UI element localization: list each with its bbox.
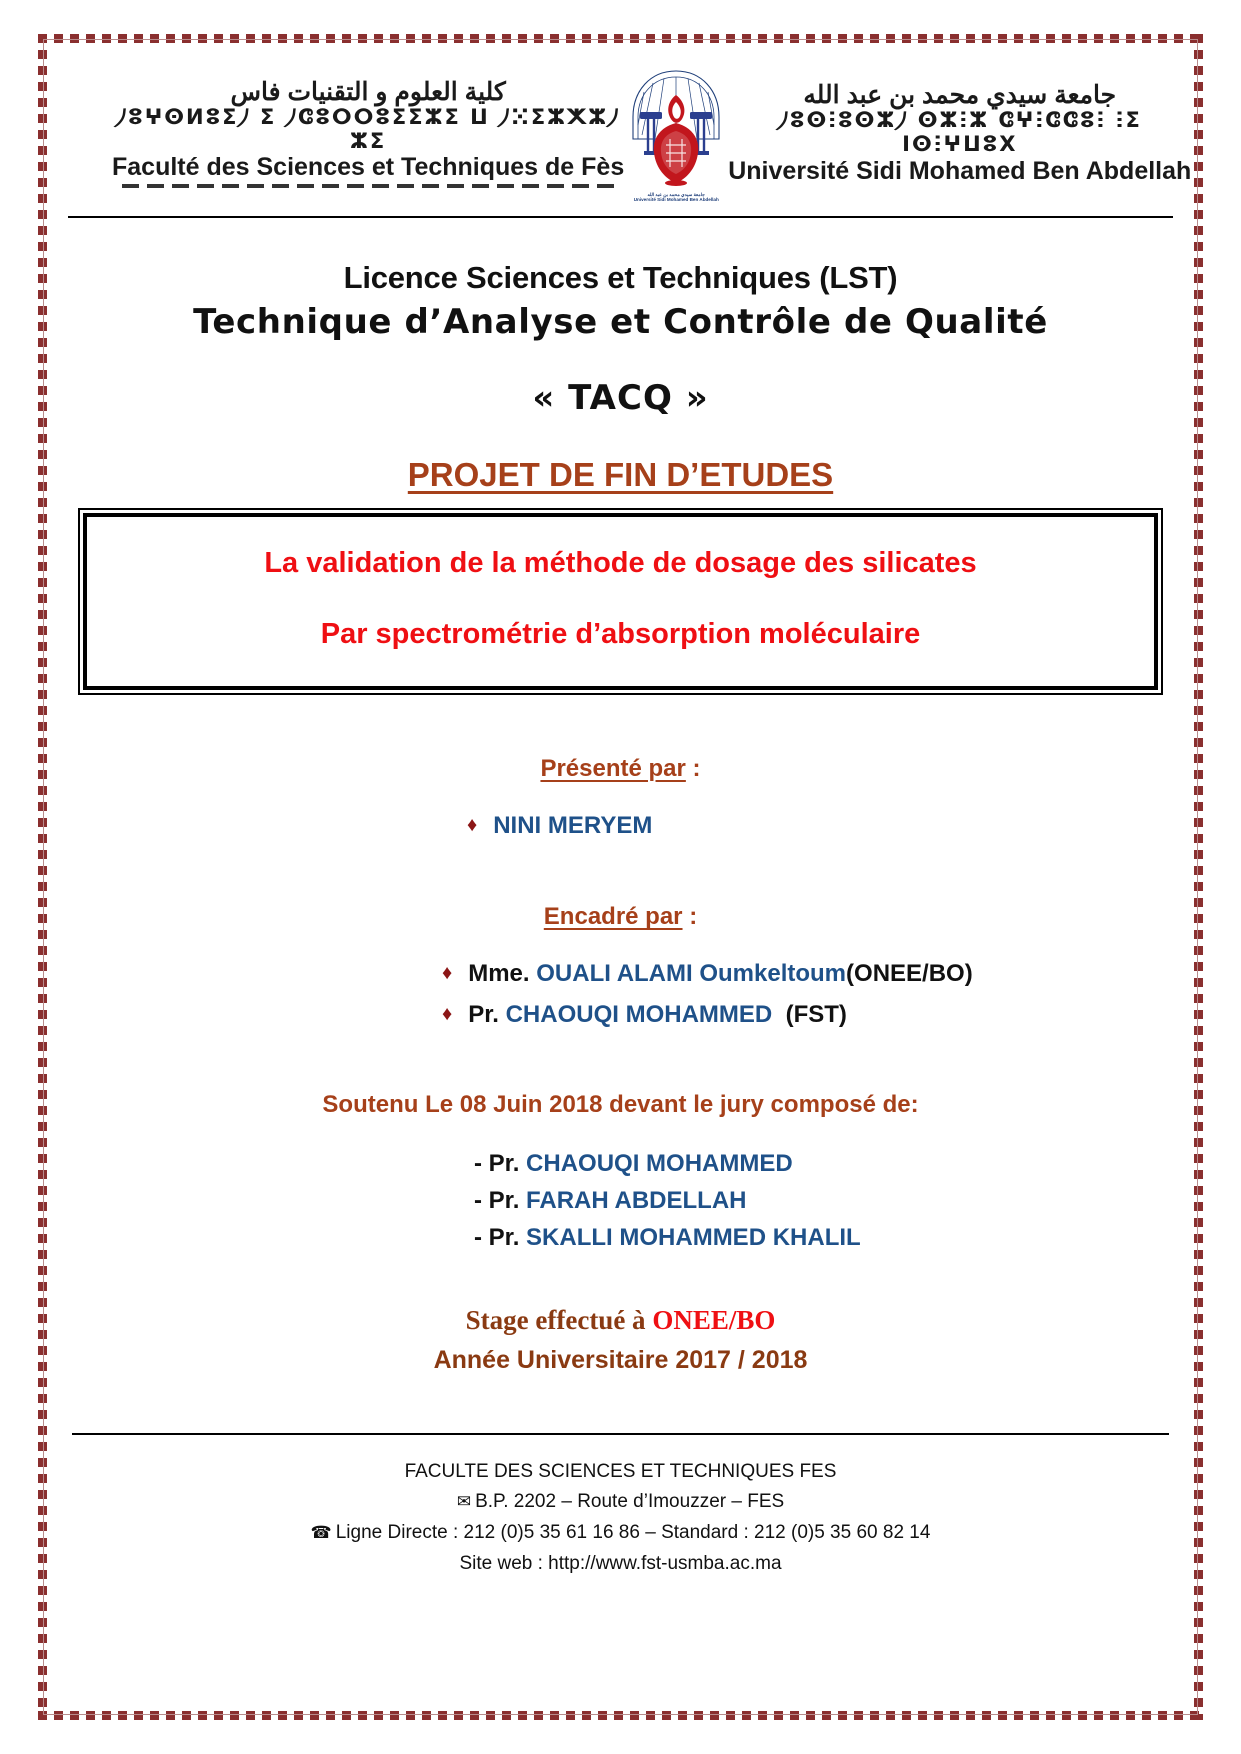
jury-dash: - bbox=[474, 1150, 489, 1177]
presented-by-colon: : bbox=[686, 755, 701, 782]
footer-phone-line: ☎Ligne Directe : 212 (0)5 35 61 16 86 – … bbox=[62, 1518, 1179, 1549]
faculty-name-french: Faculté des Sciences et Techniques de Fè… bbox=[112, 153, 624, 181]
header-divider bbox=[68, 216, 1173, 218]
footer-address-text: B.P. 2202 – Route d’Imouzzer – FES bbox=[475, 1491, 784, 1512]
supervisor-affiliation: (ONEE/BO) bbox=[846, 960, 973, 987]
diamond-bullet-icon: ♦ bbox=[467, 814, 477, 836]
thesis-title-line-1: La validation de la méthode de dosage de… bbox=[107, 547, 1134, 580]
footer-contact-block: FACULTE DES SCIENCES ET TECHNIQUES FES ✉… bbox=[62, 1457, 1179, 1580]
supervisor-affiliation: (FST) bbox=[786, 1001, 847, 1028]
academic-year: Année Universitaire 2017 / 2018 bbox=[62, 1346, 1179, 1375]
logo-caption: جامعة سيدي محمد بن عبد الله Université S… bbox=[624, 192, 728, 203]
jury-name: SKALLI MOHAMMED KHALIL bbox=[526, 1224, 861, 1251]
footer-divider bbox=[72, 1433, 1169, 1435]
degree-line-1: Licence Sciences et Techniques (LST) bbox=[62, 260, 1179, 296]
faculty-name-tifinagh: ⵰ⵓⵖⵙⵍⵓⵉ⵰ ⵉ ⵰ⵛⵓⵔⵔⵓⵉⵉⵣⵉ ⵡ ⵰ⵘⵉⵣⵅⵣ⵰ⵣⵉ bbox=[112, 106, 624, 153]
faculty-underline-rule bbox=[122, 184, 614, 188]
list-item: - Pr. CHAOUQI MOHAMMED bbox=[474, 1145, 1179, 1182]
thesis-title-box-inner: La validation de la méthode de dosage de… bbox=[83, 513, 1158, 690]
internship-prefix: Stage effectué à bbox=[466, 1305, 653, 1335]
footer-website: Site web : http://www.fst-usmba.ac.ma bbox=[62, 1549, 1179, 1580]
jury-name: FARAH ABDELLAH bbox=[526, 1187, 746, 1214]
supervised-by-text: Encadré par bbox=[544, 903, 683, 930]
supervisor-title: Pr. bbox=[468, 1001, 499, 1028]
jury-dash: - bbox=[474, 1224, 489, 1251]
project-type-label: PROJET DE FIN D’ETUDES bbox=[62, 456, 1179, 494]
jury-title: Pr. bbox=[489, 1224, 520, 1251]
jury-dash: - bbox=[474, 1187, 489, 1214]
jury-title: Pr. bbox=[489, 1187, 520, 1214]
presented-by-label: Présenté par : bbox=[62, 755, 1179, 783]
university-name-arabic: جامعة سيدي محمد بن عبد الله bbox=[728, 81, 1191, 109]
internship-line: Stage effectué à ONEE/BO bbox=[62, 1305, 1179, 1336]
list-item: ♦Pr. CHAOUQI MOHAMMED (FST) bbox=[442, 998, 1179, 1033]
degree-line-2: Technique d’Analyse et Contrôle de Quali… bbox=[62, 302, 1179, 342]
jury-title: Pr. bbox=[489, 1150, 520, 1177]
diamond-bullet-icon: ♦ bbox=[442, 1003, 452, 1025]
supervisor-name: OUALI ALAMI Oumkeltoum bbox=[536, 960, 846, 987]
jury-name: CHAOUQI MOHAMMED bbox=[526, 1150, 793, 1177]
cover-page-content: كلية العلوم و التقنيات فاس ⵰ⵓⵖⵙⵍⵓⵉ⵰ ⵉ ⵰ⵛ… bbox=[62, 58, 1179, 1698]
defense-date-line: Soutenu Le 08 Juin 2018 devant le jury c… bbox=[62, 1091, 1179, 1119]
supervisor-list: ♦Mme. OUALI ALAMI Oumkeltoum(ONEE/BO) ♦P… bbox=[62, 957, 1179, 1033]
degree-abbreviation: « TACQ » bbox=[62, 378, 1179, 418]
university-logo: جامعة سيدي محمد بن عبد الله Université S… bbox=[624, 65, 728, 201]
jury-list: - Pr. CHAOUQI MOHAMMED - Pr. FARAH ABDEL… bbox=[62, 1145, 1179, 1257]
thesis-title-line-2: Par spectrométrie d’absorption moléculai… bbox=[107, 618, 1134, 651]
faculty-name-arabic: كلية العلوم و التقنيات فاس bbox=[112, 78, 624, 106]
supervisor-title: Mme. bbox=[468, 960, 529, 987]
footer-phone-text: Ligne Directe : 212 (0)5 35 61 16 86 – S… bbox=[336, 1522, 931, 1543]
student-list: ♦NINI MERYEM bbox=[62, 809, 1179, 844]
institution-header: كلية العلوم و التقنيات فاس ⵰ⵓⵖⵙⵍⵓⵉ⵰ ⵉ ⵰ⵛ… bbox=[62, 58, 1179, 208]
supervised-by-label: Encadré par : bbox=[62, 903, 1179, 931]
mail-icon: ✉ bbox=[457, 1492, 471, 1511]
project-type-text: PROJET DE FIN D’ETUDES bbox=[408, 456, 833, 493]
logo-caption-french: Université Sidi Mohamed Ben Abdellah bbox=[624, 197, 728, 203]
diamond-bullet-icon: ♦ bbox=[442, 962, 452, 984]
list-item: - Pr. SKALLI MOHAMMED KHALIL bbox=[474, 1219, 1179, 1256]
list-item: ♦Mme. OUALI ALAMI Oumkeltoum(ONEE/BO) bbox=[442, 957, 1179, 992]
footer-address-line: ✉B.P. 2202 – Route d’Imouzzer – FES bbox=[62, 1487, 1179, 1518]
page-border-bottom bbox=[38, 1711, 1203, 1720]
phone-icon: ☎ bbox=[311, 1523, 332, 1542]
presented-by-text: Présenté par bbox=[540, 755, 685, 782]
supervised-by-colon: : bbox=[683, 903, 698, 930]
page-border-right bbox=[1194, 34, 1203, 1720]
list-item: - Pr. FARAH ABDELLAH bbox=[474, 1182, 1179, 1219]
university-name-french: Université Sidi Mohamed Ben Abdellah bbox=[728, 157, 1191, 185]
student-name: NINI MERYEM bbox=[493, 812, 652, 839]
supervisor-name: CHAOUQI MOHAMMED bbox=[506, 1001, 773, 1028]
thesis-title-box: La validation de la méthode de dosage de… bbox=[78, 508, 1163, 695]
list-item: ♦NINI MERYEM bbox=[467, 809, 1179, 844]
page-border-left bbox=[38, 34, 47, 1720]
faculty-identity: كلية العلوم و التقنيات فاس ⵰ⵓⵖⵙⵍⵓⵉ⵰ ⵉ ⵰ⵛ… bbox=[112, 78, 624, 188]
university-name-tifinagh: ⵰ⵓⵙⵗⵓⵙⵣ⵰ ⵙⵣⵗⵣ ⵛⵖⵗⵛⵛⵓⵗ ⵗⵉ ⵏⵙⵗⵖⵡⵓⵝ bbox=[728, 109, 1191, 156]
internship-organization: ONEE/BO bbox=[652, 1305, 775, 1335]
university-identity: جامعة سيدي محمد بن عبد الله ⵰ⵓⵙⵗⵓⵙⵣ⵰ ⵙⵣⵗ… bbox=[728, 81, 1191, 184]
footer-faculty-name: FACULTE DES SCIENCES ET TECHNIQUES FES bbox=[62, 1457, 1179, 1488]
page-border-top bbox=[38, 34, 1203, 43]
